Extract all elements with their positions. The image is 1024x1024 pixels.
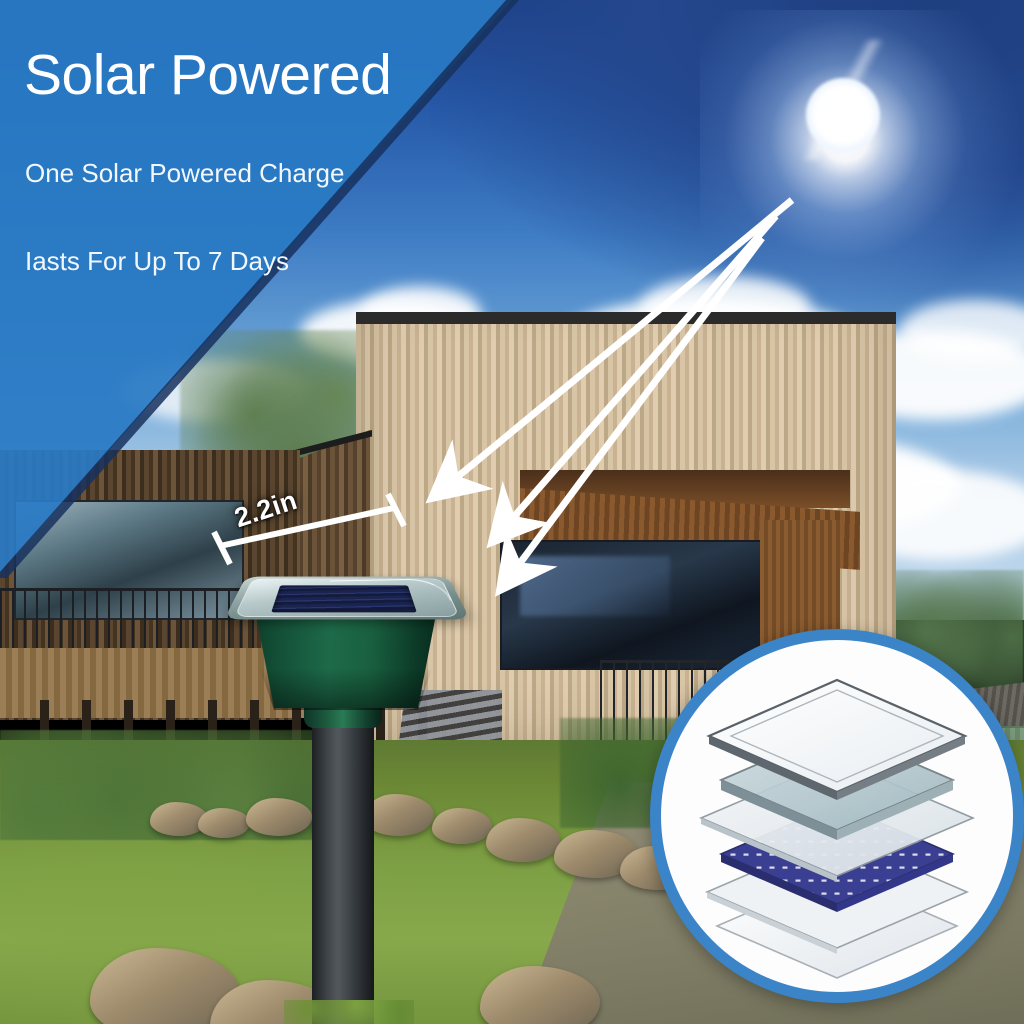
solar-stake-device (232, 548, 482, 1024)
exploded-layers-diagram (661, 640, 1013, 992)
subtitle-line-1: One Solar Powered Charge (25, 158, 344, 189)
dimension-callout: 2.2in (196, 486, 436, 606)
device-stake-pole (312, 714, 374, 1024)
grass-front-of-stake (284, 1000, 414, 1024)
product-marketing-banner: 2.2in Solar Powered One Solar Powered Ch… (0, 0, 1024, 1024)
subtitle-line-2: Iasts For Up To 7 Days (25, 246, 289, 277)
solar-panel-layers-inset (650, 629, 1024, 1003)
sun-icon (806, 78, 880, 152)
house-roof-edge (356, 312, 896, 324)
window-reflection (520, 556, 670, 616)
page-title: Solar Powered (24, 46, 391, 106)
device-housing-shading (246, 668, 446, 710)
